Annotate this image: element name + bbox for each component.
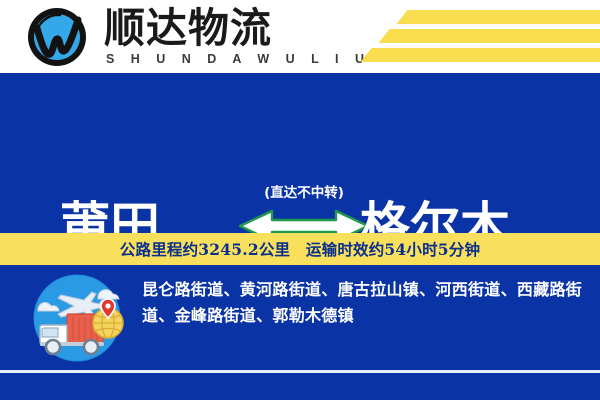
route-section: 莆田 (直达不中转) 【往返运输】 格尔木 (0, 73, 600, 233)
distance-duration-text: 公路里程约3245.2公里 运输时效约54小时5分钟 (120, 238, 480, 260)
yellow-diagonal-stripes-icon (330, 0, 600, 73)
stripe-3 (361, 48, 600, 62)
brand-logo (26, 6, 104, 68)
footer-band (0, 373, 600, 400)
stripe-2 (379, 29, 600, 43)
truck-plane-globe-badge-icon (20, 273, 134, 363)
coverage-areas-text: 昆仑路街道、黄河路街道、唐古拉山镇、河西街道、西藏路街道、金峰路街道、郭勒木德镇 (142, 277, 588, 329)
coverage-section: 昆仑路街道、黄河路街道、唐古拉山镇、河西街道、西藏路街道、金峰路街道、郭勒木德镇 (0, 265, 600, 371)
circle-w-swoosh-logo (26, 6, 88, 68)
brand-name-cn: 顺达物流 (104, 6, 272, 50)
distance-duration-bar: 公路里程约3245.2公里 运输时效约54小时5分钟 (0, 233, 600, 265)
stripe-1 (397, 10, 600, 24)
header: 顺达物流 S H U N D A W U L I U (0, 0, 600, 73)
direct-route-note: (直达不中转) (236, 181, 372, 201)
logistics-route-banner: 顺达物流 S H U N D A W U L I U 莆田 (直达不中转) 【往… (0, 0, 600, 400)
